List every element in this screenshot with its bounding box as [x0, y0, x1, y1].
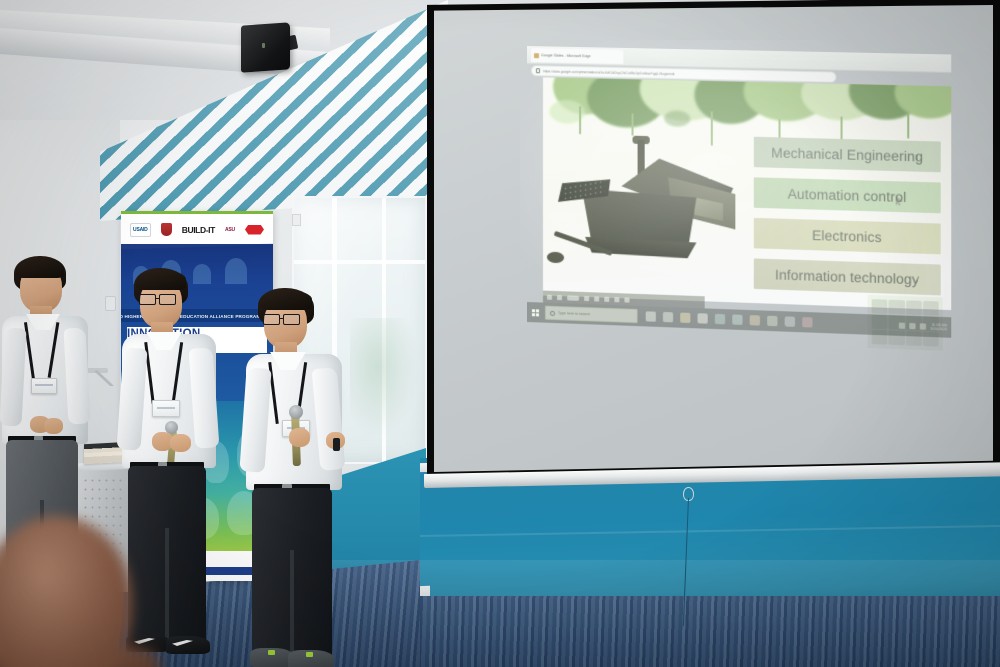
browser-url: https://docs.google.com/presentation/d/1…: [543, 69, 675, 76]
splash-drip: [907, 114, 909, 139]
screenshot-root: USAID BUILD-IT ASU USAID HIGHER ENGINEER…: [0, 0, 1000, 667]
laser-icon[interactable]: [604, 296, 609, 301]
volume-icon[interactable]: [920, 323, 926, 329]
browser-tab[interactable]: Google Slides - Microsoft Edge: [531, 48, 623, 64]
zoom-out-icon[interactable]: [547, 294, 552, 299]
presenter-center: [118, 266, 240, 666]
search-placeholder: Type here to search: [558, 311, 590, 316]
presentation-clicker[interactable]: [333, 438, 340, 451]
hair-front: [260, 290, 312, 310]
zoom-in-icon[interactable]: [557, 295, 562, 300]
hair-front: [16, 258, 64, 278]
app-grid-icon[interactable]: [872, 299, 888, 314]
glasses-right-lens: [159, 294, 176, 305]
name-badge: [31, 378, 57, 394]
slide-canvas: Mechanical Engineering Automation contro…: [543, 77, 951, 310]
store-icon[interactable]: [698, 313, 708, 323]
machine-render: [555, 136, 753, 293]
ministry-seal-logo: [161, 223, 172, 236]
settings-icon[interactable]: [785, 316, 795, 327]
taskbar-search-input[interactable]: Type here to search: [545, 306, 638, 323]
browser-tab-title: Google Slides - Microsoft Edge: [541, 53, 591, 58]
clock-date: 3/24/2020: [930, 327, 947, 332]
asu-logo: ASU: [225, 223, 235, 237]
hand-right: [170, 434, 191, 452]
glasses-bridge: [155, 298, 160, 299]
splash-drip: [632, 114, 634, 136]
photos-icon[interactable]: [750, 315, 760, 326]
app-grid-icon[interactable]: [889, 300, 905, 315]
trouser-seam: [290, 550, 294, 660]
discipline-label: Mechanical Engineering: [771, 145, 923, 164]
discipline-bar-electronics: Electronics: [754, 218, 941, 254]
hand-left: [289, 428, 310, 447]
glasses-bridge: [279, 318, 284, 319]
usaid-logo: USAID: [130, 223, 151, 237]
taskbar-clock[interactable]: 11:28 AM 3/24/2020: [930, 322, 947, 332]
app-grid-icon[interactable]: [923, 301, 939, 316]
discipline-label: Electronics: [812, 227, 882, 244]
slides-favicon-icon: [534, 53, 539, 58]
machine-wheel: [547, 252, 564, 264]
dow-logo: [245, 225, 264, 235]
discipline-bar-automation: Automation control: [754, 177, 941, 213]
file-explorer-icon[interactable]: [680, 313, 690, 323]
slide-counter[interactable]: [567, 295, 579, 300]
glasses-left-lens: [263, 314, 280, 325]
microphone-head: [289, 405, 303, 419]
discipline-bar-mechanical: Mechanical Engineering: [754, 137, 941, 173]
network-icon[interactable]: [909, 323, 915, 329]
trouser-seam: [165, 528, 169, 640]
media-icon[interactable]: [802, 317, 812, 328]
discipline-label: Automation control: [788, 186, 907, 205]
chevron-up-icon[interactable]: [899, 323, 905, 329]
gear-icon[interactable]: [624, 297, 629, 302]
grid-icon[interactable]: [584, 296, 589, 301]
lock-icon: [536, 68, 540, 73]
pen-icon[interactable]: [594, 296, 599, 301]
hand-right: [44, 418, 63, 434]
start-button[interactable]: [527, 302, 543, 323]
discipline-bars: Mechanical Engineering Automation contro…: [754, 137, 941, 304]
banner-top-accent: [121, 211, 273, 214]
cortana-icon[interactable]: [646, 311, 656, 321]
task-view-icon[interactable]: [663, 312, 673, 322]
taskbar-app-list: [646, 311, 813, 327]
light-switch[interactable]: [292, 214, 301, 226]
app-grid-icon[interactable]: [906, 300, 922, 315]
mail-icon[interactable]: [732, 314, 742, 325]
hair-front: [136, 270, 186, 290]
search-icon: [550, 310, 555, 315]
chrome-icon[interactable]: [767, 316, 777, 327]
windows-logo-icon: [531, 309, 538, 316]
speaker-led-icon: [262, 43, 265, 48]
shoe-logo-icon: [268, 650, 275, 655]
banner-logo-row: USAID BUILD-IT ASU: [121, 216, 273, 243]
name-badge: [152, 400, 180, 417]
projected-screen-content: Google Slides - Microsoft Edge https://d…: [527, 46, 951, 338]
ceiling-speaker: [241, 22, 290, 72]
glasses-left-lens: [139, 294, 156, 305]
fullscreen-icon[interactable]: [614, 297, 619, 302]
splash-drip: [579, 106, 581, 134]
discipline-bar-it: Information technology: [754, 258, 941, 295]
splash-blob: [664, 110, 690, 127]
glasses-right-lens: [283, 314, 300, 325]
system-tray: 11:28 AM 3/24/2020: [899, 315, 947, 337]
build-it-logo: BUILD-IT: [182, 223, 215, 237]
shoe-right: [166, 636, 210, 654]
presenter-right: [240, 288, 366, 667]
discipline-label: Information technology: [775, 267, 919, 287]
shoe-logo-icon: [306, 652, 313, 657]
edge-icon[interactable]: [715, 314, 725, 324]
